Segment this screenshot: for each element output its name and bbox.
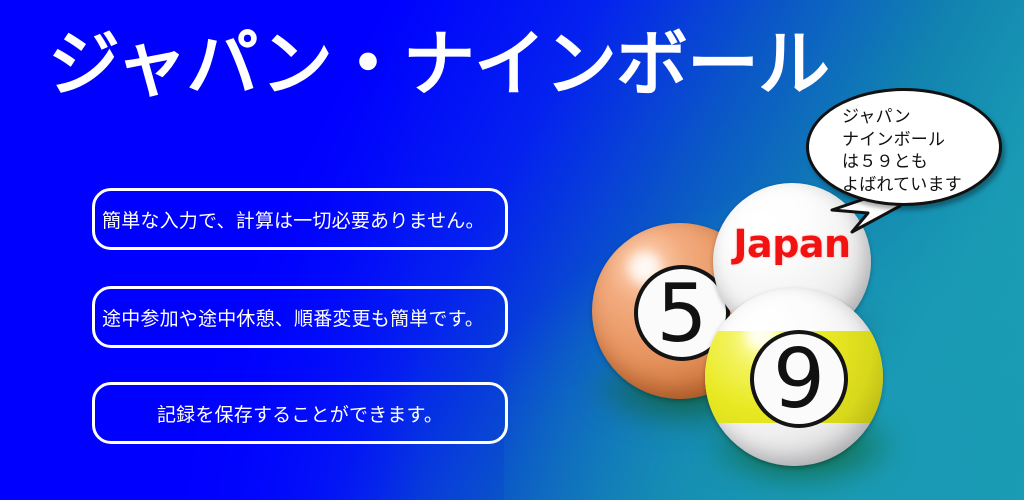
feature-box-2: 途中参加や途中休憩、順番変更も簡単です。: [92, 286, 508, 348]
feature-box-3: 記録を保存することができます。: [92, 382, 508, 444]
feature-box-1: 簡単な入力で、計算は一切必要ありません。: [92, 188, 508, 250]
feature-box-1-label: 簡単な入力で、計算は一切必要ありません。: [95, 206, 505, 233]
speech-bubble: ジャパン ナインボール は５９とも よばれています: [806, 88, 1016, 236]
feature-box-3-label: 記録を保存することができます。: [95, 400, 505, 427]
nine-ball-number: 9: [750, 330, 848, 428]
feature-box-2-label: 途中参加や途中休憩、順番変更も簡単です。: [95, 304, 505, 331]
page-title: ジャパン・ナインボール: [48, 26, 829, 102]
app-banner: ジャパン・ナインボール 簡単な入力で、計算は一切必要ありません。 途中参加や途中…: [0, 0, 1024, 500]
speech-bubble-text: ジャパン ナインボール は５９とも よばれています: [842, 106, 1010, 196]
